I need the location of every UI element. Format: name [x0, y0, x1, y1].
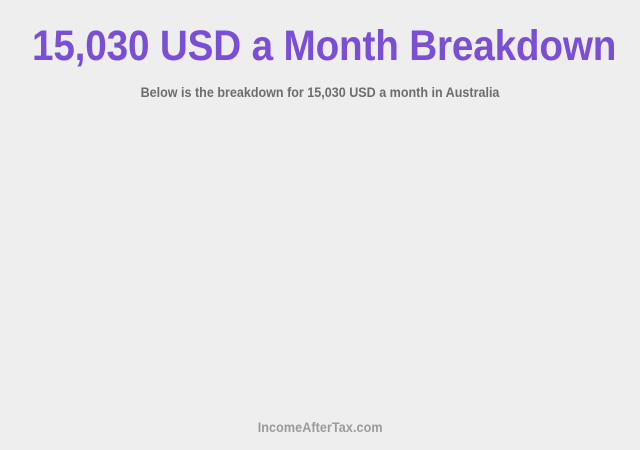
- page-footer: IncomeAfterTax.com: [0, 419, 640, 437]
- chart-plot-area: [40, 122, 600, 397]
- breakdown-chart-area: [0, 112, 640, 407]
- footer-brand-label: IncomeAfterTax.com: [258, 420, 383, 436]
- page-subtitle: Below is the breakdown for 15,030 USD a …: [22, 84, 617, 101]
- page-title: 15,030 USD a Month Breakdown: [32, 23, 608, 69]
- breakdown-page: 15,030 USD a Month Breakdown Below is th…: [0, 0, 640, 450]
